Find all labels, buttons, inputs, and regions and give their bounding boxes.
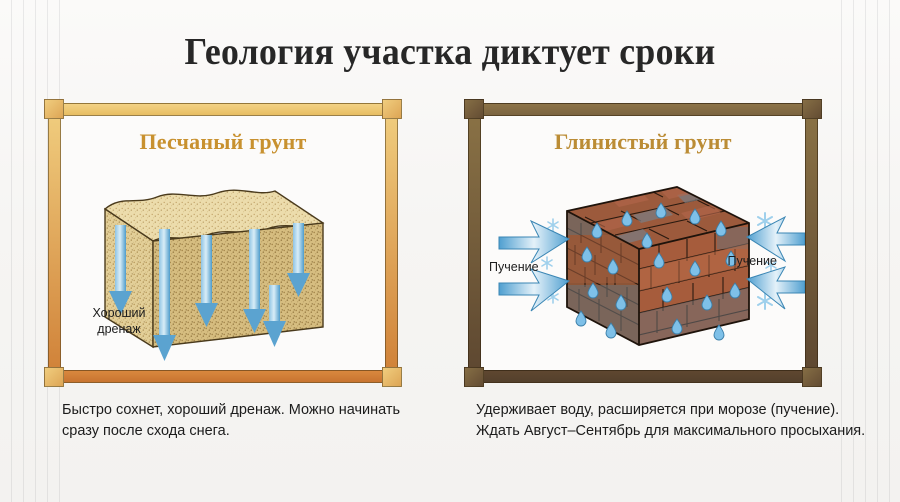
- page-title: Геология участка диктует сроки: [27, 30, 873, 74]
- frame-bar-bottom-clay: [468, 370, 818, 383]
- frame-bar-top-clay: [468, 103, 818, 116]
- heave-label-left: Пучение: [489, 260, 539, 274]
- slide-canvas: Геология участка диктует сроки Песчаный …: [0, 0, 900, 502]
- frame-corner-bottom-right-clay: [802, 367, 822, 387]
- frame-bar-top-sandy: [48, 103, 398, 116]
- illustration-sandy-block: Хороший дренаж: [61, 165, 385, 370]
- caption-sandy-soil: Быстро сохнет, хороший дренаж. Можно нач…: [62, 400, 422, 442]
- frame-bar-left-sandy: [48, 103, 61, 383]
- drainage-label-line1: Хороший: [92, 306, 145, 320]
- frame-corner-top-right-clay: [802, 99, 822, 119]
- frame-corner-top-left-sandy: [44, 99, 64, 119]
- illustration-clay-block: Пучение Пучение: [481, 165, 805, 370]
- panel-clay-title: Глинистый грунт: [468, 129, 818, 155]
- frame-corner-bottom-left-sandy: [44, 367, 64, 387]
- panel-clay-soil: Глинистый грунт: [468, 103, 818, 383]
- frame-corner-top-left-clay: [464, 99, 484, 119]
- frame-corner-bottom-right-sandy: [382, 367, 402, 387]
- panel-sandy-title: Песчаный грунт: [48, 129, 398, 155]
- frame-bar-right-clay: [805, 103, 818, 383]
- caption-clay-soil: Удерживает воду, расширяется при морозе …: [476, 400, 876, 442]
- drainage-label-line2: дренаж: [97, 322, 141, 336]
- heave-label-right: Пучение: [727, 254, 777, 268]
- sandy-block-svg: Хороший дренаж: [61, 165, 385, 370]
- frame-bar-left-clay: [468, 103, 481, 383]
- frame-bar-right-sandy: [385, 103, 398, 383]
- clay-block-svg: Пучение Пучение: [481, 165, 805, 370]
- frame-corner-top-right-sandy: [382, 99, 402, 119]
- frame-corner-bottom-left-clay: [464, 367, 484, 387]
- frame-bar-bottom-sandy: [48, 370, 398, 383]
- panel-sandy-soil: Песчаный грунт: [48, 103, 398, 383]
